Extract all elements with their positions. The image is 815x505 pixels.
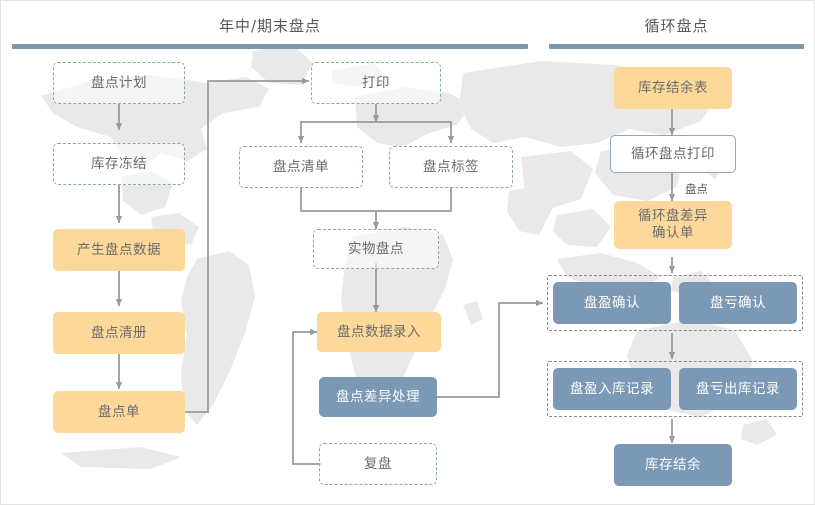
node-generate-count-data[interactable]: 产生盘点数据 [53,229,185,271]
flowchart-canvas: 年中/期末盘点 循环盘点 [0,0,815,505]
node-print[interactable]: 打印 [311,62,441,104]
node-gain-confirm[interactable]: 盘盈确认 [553,282,671,324]
node-data-entry[interactable]: 盘点数据录入 [317,312,441,352]
node-recount[interactable]: 复盘 [319,443,437,485]
node-loss-confirm[interactable]: 盘亏确认 [679,282,797,324]
node-balance-table[interactable]: 库存结余表 [614,67,732,109]
node-physical-count[interactable]: 实物盘点 [313,229,439,269]
node-count-tag[interactable]: 盘点标签 [389,146,513,188]
node-freeze[interactable]: 库存冻结 [53,143,185,185]
node-difference-handling[interactable]: 盘点差异处理 [319,377,437,417]
node-cycle-print[interactable]: 循环盘点打印 [610,135,736,173]
node-gain-inbound-record[interactable]: 盘盈入库记录 [553,368,671,410]
node-inventory-balance[interactable]: 库存结余 [614,444,732,486]
node-count-register[interactable]: 盘点清册 [53,312,185,354]
node-plan[interactable]: 盘点计划 [53,62,185,104]
node-count-sheet[interactable]: 盘点单 [53,391,185,433]
section-bar-cycle [549,44,804,49]
edge-label-cycle-count: 盘点 [685,181,708,197]
section-bar-periodic [12,44,528,49]
node-cycle-difference-confirm[interactable]: 循环盘差异 确认单 [614,201,732,249]
section-title-cycle: 循环盘点 [549,15,804,36]
section-title-periodic: 年中/期末盘点 [12,15,528,36]
node-loss-outbound-record[interactable]: 盘亏出库记录 [679,368,797,410]
node-count-list[interactable]: 盘点清单 [239,146,363,188]
